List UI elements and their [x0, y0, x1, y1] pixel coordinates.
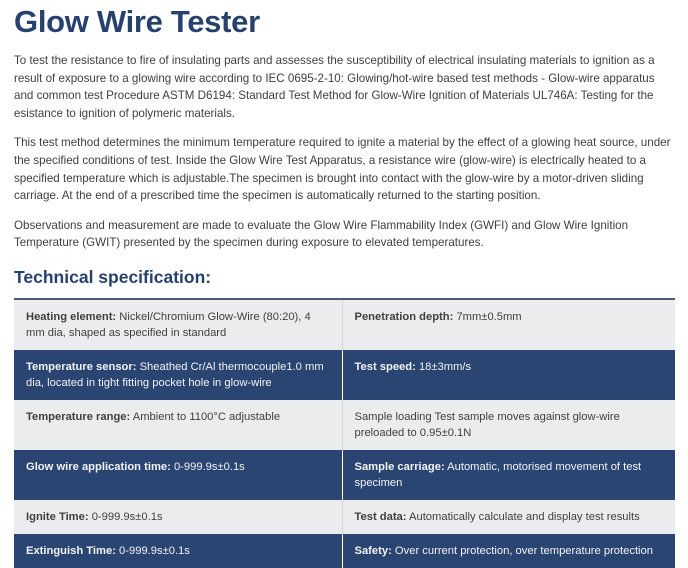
spec-cell-right: Sample loading Test sample moves against… [342, 400, 675, 450]
spec-value: 7mm±0.5mm [456, 311, 521, 323]
product-page: Glow Wire Tester To test the resistance … [0, 4, 688, 568]
spec-label: Glow wire application time: [26, 461, 171, 473]
technical-specification-table: Heating element: Nickel/Chromium Glow-Wi… [14, 298, 675, 568]
spec-cell-left: Ignite Time: 0-999.9s±0.1s [14, 500, 342, 534]
intro-paragraph-3: Observations and measurement are made to… [14, 217, 674, 252]
spec-cell-right: Safety: Over current protection, over te… [342, 534, 675, 568]
spec-cell-left: Temperature sensor: Sheathed Cr/Al therm… [14, 350, 342, 400]
spec-cell-right: Penetration depth: 7mm±0.5mm [342, 299, 675, 350]
intro-paragraph-1: To test the resistance to fire of insula… [14, 52, 674, 122]
table-row: Glow wire application time: 0-999.9s±0.1… [14, 450, 675, 500]
technical-specification-heading: Technical specification: [14, 266, 674, 288]
spec-label: Sample carriage: [355, 461, 445, 473]
spec-label: Temperature range: [26, 411, 130, 423]
table-row: Ignite Time: 0-999.9s±0.1s Test data: Au… [14, 500, 675, 534]
spec-value: 18±3mm/s [419, 361, 471, 373]
spec-cell-left: Extinguish Time: 0-999.9s±0.1s [14, 534, 342, 568]
table-row: Heating element: Nickel/Chromium Glow-Wi… [14, 299, 675, 350]
table-row: Extinguish Time: 0-999.9s±0.1s Safety: O… [14, 534, 675, 568]
spec-label: Ignite Time: [26, 511, 89, 523]
table-row: Temperature range: Ambient to 1100°C adj… [14, 400, 675, 450]
spec-value: Ambient to 1100°C adjustable [133, 411, 280, 423]
spec-value: 0-999.9s±0.1s [174, 461, 245, 473]
spec-value: Automatically calculate and display test… [409, 511, 640, 523]
spec-label: Penetration depth: [355, 311, 454, 323]
spec-cell-right: Sample carriage: Automatic, motorised mo… [342, 450, 675, 500]
spec-label: Heating element: [26, 311, 116, 323]
spec-value: 0-999.9s±0.1s [119, 545, 190, 557]
spec-value: 0-999.9s±0.1s [92, 511, 163, 523]
spec-label: Temperature sensor: [26, 361, 136, 373]
intro-paragraph-2: This test method determines the minimum … [14, 134, 674, 204]
spec-value: Sample loading Test sample moves against… [355, 411, 620, 439]
page-title: Glow Wire Tester [14, 4, 674, 40]
spec-cell-left: Glow wire application time: 0-999.9s±0.1… [14, 450, 342, 500]
spec-cell-left: Temperature range: Ambient to 1100°C adj… [14, 400, 342, 450]
spec-label: Extinguish Time: [26, 545, 116, 557]
spec-value: Over current protection, over temperatur… [395, 545, 653, 557]
table-row: Temperature sensor: Sheathed Cr/Al therm… [14, 350, 675, 400]
spec-cell-right: Test data: Automatically calculate and d… [342, 500, 675, 534]
spec-label: Safety: [355, 545, 392, 557]
spec-label: Test data: [355, 511, 407, 523]
spec-cell-right: Test speed: 18±3mm/s [342, 350, 675, 400]
spec-cell-left: Heating element: Nickel/Chromium Glow-Wi… [14, 299, 342, 350]
spec-label: Test speed: [355, 361, 416, 373]
